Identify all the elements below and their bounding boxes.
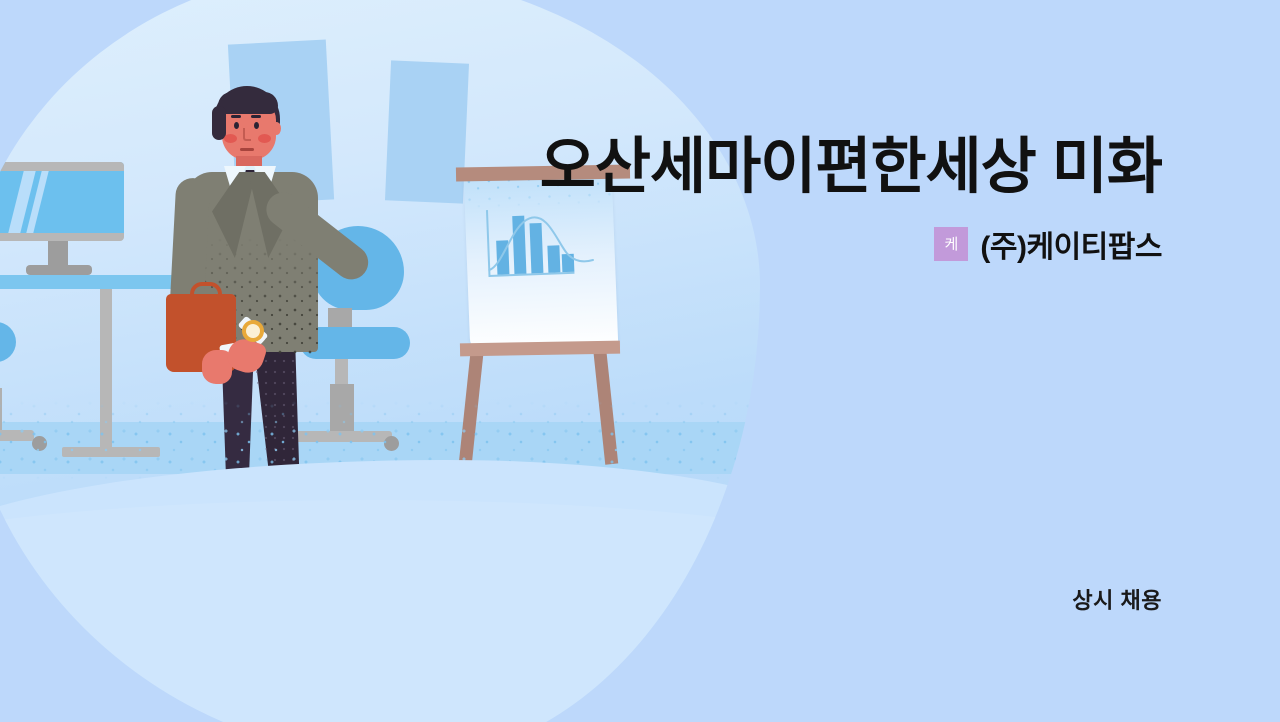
hair-fringe	[218, 92, 278, 114]
mouth	[240, 148, 254, 151]
cheek-right	[258, 134, 271, 143]
company-row[interactable]: 케 (주)케이티팝스	[934, 222, 1162, 266]
page-title: 오산세마이편한세상 미화	[540, 131, 1162, 201]
nose	[243, 128, 251, 141]
wristwatch-face	[246, 324, 260, 338]
eye-right	[254, 122, 259, 129]
monitor-base	[26, 265, 92, 275]
ear	[272, 122, 281, 135]
monitor-bottom-edge	[0, 233, 124, 241]
hair-sideburn	[212, 106, 226, 140]
illustration-scene	[0, 0, 760, 722]
briefcase-handle	[190, 282, 222, 302]
monitor-neck	[48, 241, 68, 265]
eyebrow-left	[231, 115, 241, 118]
company-name[interactable]: (주)케이티팝스	[980, 222, 1162, 266]
status-badge: 상시 채용	[1072, 583, 1162, 615]
chart-trend-curve-icon	[485, 204, 598, 280]
job-posting-card: 오산세마이편한세상 미화 케 (주)케이티팝스 상시 채용	[0, 0, 1280, 722]
monitor-bezel	[0, 162, 124, 171]
cheek-left	[224, 134, 237, 143]
eye-left	[234, 122, 239, 129]
company-logo-badge: 케	[934, 227, 968, 261]
floor-wave-2	[0, 500, 760, 722]
illustration-blob	[0, 0, 760, 722]
office-chair-1-backrest	[0, 322, 16, 362]
eyebrow-right	[251, 115, 261, 118]
easel-tray	[460, 341, 620, 357]
